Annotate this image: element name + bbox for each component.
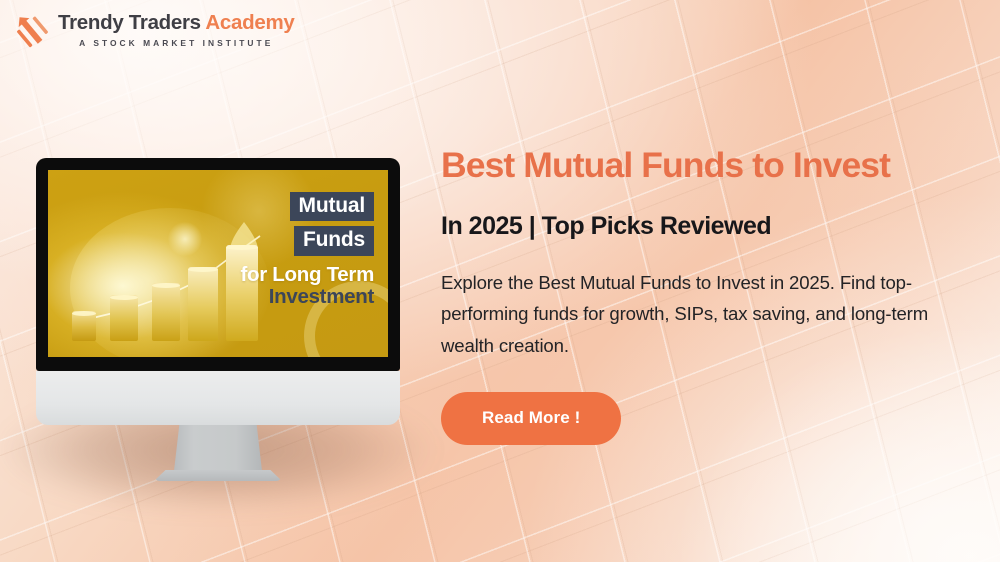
brand-logo-text: Trendy Traders Academy A STOCK MARKET IN… bbox=[58, 11, 294, 47]
brand-logo[interactable]: Trendy Traders Academy A STOCK MARKET IN… bbox=[12, 8, 294, 50]
screen-line4: Investment bbox=[240, 286, 374, 309]
coin-stack bbox=[188, 267, 218, 341]
screen-line3: for Long Term bbox=[240, 264, 374, 287]
page-subtitle: In 2025 | Top Picks Reviewed bbox=[441, 212, 961, 241]
screen-line2: Funds bbox=[294, 226, 374, 255]
brand-name-primary: Trendy Traders bbox=[58, 11, 205, 34]
brand-tagline: A STOCK MARKET INSTITUTE bbox=[58, 39, 294, 47]
screen-line1-row: Mutual bbox=[240, 192, 374, 226]
hero-copy: Best Mutual Funds to Invest In 2025 | To… bbox=[441, 146, 961, 445]
upward-trend-arrow-icon bbox=[12, 8, 52, 50]
monitor-stand-foot bbox=[154, 470, 282, 481]
monitor-illustration: Mutual Funds for Long Term Investment bbox=[36, 158, 400, 481]
brand-name-accent: Academy bbox=[205, 11, 294, 34]
screen-line2-row: Funds bbox=[240, 226, 374, 260]
monitor-stand-neck bbox=[174, 425, 262, 471]
coin-stack bbox=[72, 311, 96, 341]
monitor-screen: Mutual Funds for Long Term Investment bbox=[48, 170, 388, 357]
screen-line1: Mutual bbox=[290, 192, 374, 221]
monitor-bezel: Mutual Funds for Long Term Investment bbox=[36, 158, 400, 371]
coin-stack bbox=[152, 283, 180, 341]
screen-headline-block: Mutual Funds for Long Term Investment bbox=[240, 192, 374, 309]
coin-stack bbox=[110, 295, 138, 341]
hero-description: Explore the Best Mutual Funds to Invest … bbox=[441, 267, 953, 363]
page-title: Best Mutual Funds to Invest bbox=[441, 146, 961, 186]
hero-banner: Trendy Traders Academy A STOCK MARKET IN… bbox=[0, 0, 1000, 562]
read-more-button[interactable]: Read More ! bbox=[441, 392, 621, 445]
brand-name: Trendy Traders Academy bbox=[58, 11, 294, 34]
monitor-chin bbox=[36, 371, 400, 425]
